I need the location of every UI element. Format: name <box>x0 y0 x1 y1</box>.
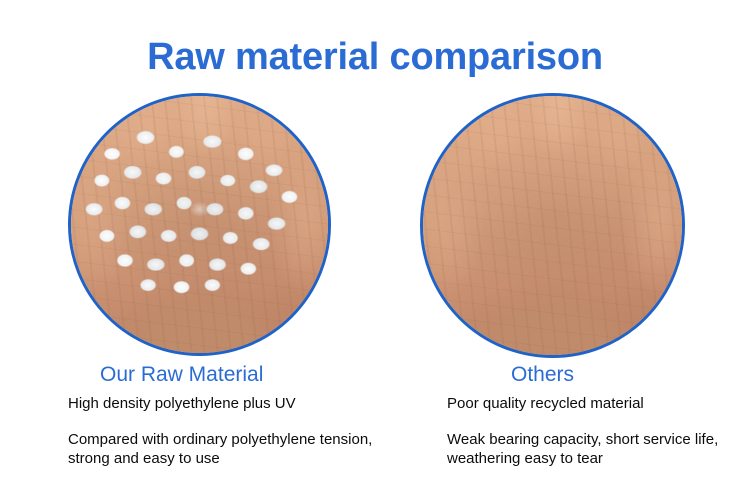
caption-line2-others: Weak bearing capacity, short service lif… <box>443 430 750 468</box>
caption-line1-others: Poor quality recycled material <box>443 394 750 413</box>
product-photo-our-raw-material <box>68 93 331 356</box>
caption-line1-our-raw-material: High density polyethylene plus UV <box>64 394 404 413</box>
photo-white-pellets <box>71 96 328 353</box>
caption-heading-our-raw-material: Our Raw Material <box>64 362 404 388</box>
product-photo-others <box>420 93 685 358</box>
page-title: Raw material comparison <box>0 36 750 79</box>
caption-spacer <box>443 413 750 430</box>
comparison-infographic: Raw material comparison Our Raw Material… <box>0 0 750 497</box>
caption-heading-others: Others <box>443 362 750 388</box>
photo-beige-pellets <box>423 96 682 355</box>
caption-spacer <box>64 413 404 430</box>
caption-line2-our-raw-material: Compared with ordinary polyethylene tens… <box>64 430 388 468</box>
pellet-pile-white <box>71 117 328 323</box>
caption-others: Others Poor quality recycled material We… <box>443 362 750 468</box>
caption-our-raw-material: Our Raw Material High density polyethyle… <box>64 362 404 468</box>
pellet-pile-beige <box>423 117 682 324</box>
